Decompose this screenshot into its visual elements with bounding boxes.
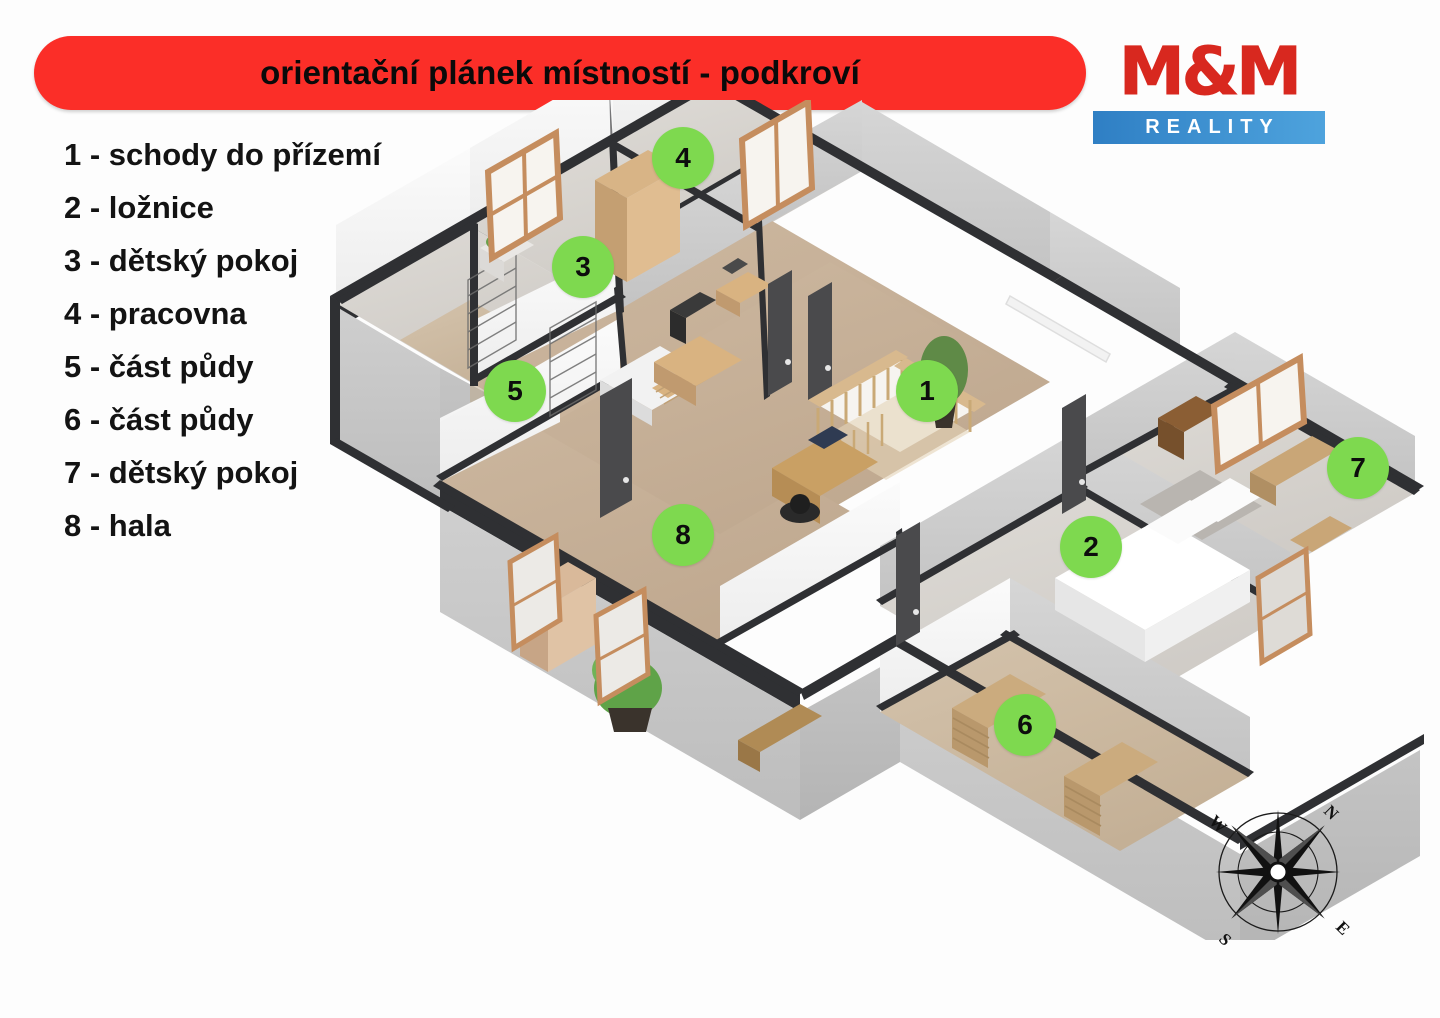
compass-label-north: N	[1320, 801, 1343, 824]
room-marker-7-label: 7	[1350, 452, 1366, 484]
room-marker-3[interactable]: 3	[552, 236, 614, 298]
room-marker-6-label: 6	[1017, 709, 1033, 741]
room-marker-5[interactable]: 5	[484, 360, 546, 422]
room-marker-1[interactable]: 1	[896, 360, 958, 422]
room-marker-4-label: 4	[675, 142, 691, 174]
room-marker-8-label: 8	[675, 519, 691, 551]
door-hall-right	[896, 522, 920, 646]
compass-rose: N E S W	[1192, 786, 1364, 958]
floorplan-page: orientační plánek místností - podkroví M…	[0, 0, 1440, 1018]
logo-brand-text: M&M	[1119, 39, 1299, 105]
room-marker-3-label: 3	[575, 251, 591, 283]
compass-label-west: W	[1205, 811, 1230, 836]
room-marker-8[interactable]: 8	[652, 504, 714, 566]
door-room4	[768, 270, 792, 396]
compass-hub	[1269, 863, 1287, 881]
door-room3	[808, 282, 832, 400]
room-marker-5-label: 5	[507, 375, 523, 407]
page-title: orientační plánek místností - podkroví	[260, 54, 860, 92]
compass-label-south: S	[1215, 929, 1235, 949]
room-marker-2-label: 2	[1083, 531, 1099, 563]
room-marker-7[interactable]: 7	[1327, 437, 1389, 499]
room-marker-6[interactable]: 6	[994, 694, 1056, 756]
room-marker-1-label: 1	[919, 375, 935, 407]
compass-label-east: E	[1332, 917, 1353, 938]
door-attic5	[600, 378, 632, 518]
room-marker-4[interactable]: 4	[652, 127, 714, 189]
room-marker-2[interactable]: 2	[1060, 516, 1122, 578]
title-banner: orientační plánek místností - podkroví	[34, 36, 1086, 110]
logo-brand-mark: M&M	[1093, 36, 1325, 108]
door-room2	[1062, 394, 1086, 514]
